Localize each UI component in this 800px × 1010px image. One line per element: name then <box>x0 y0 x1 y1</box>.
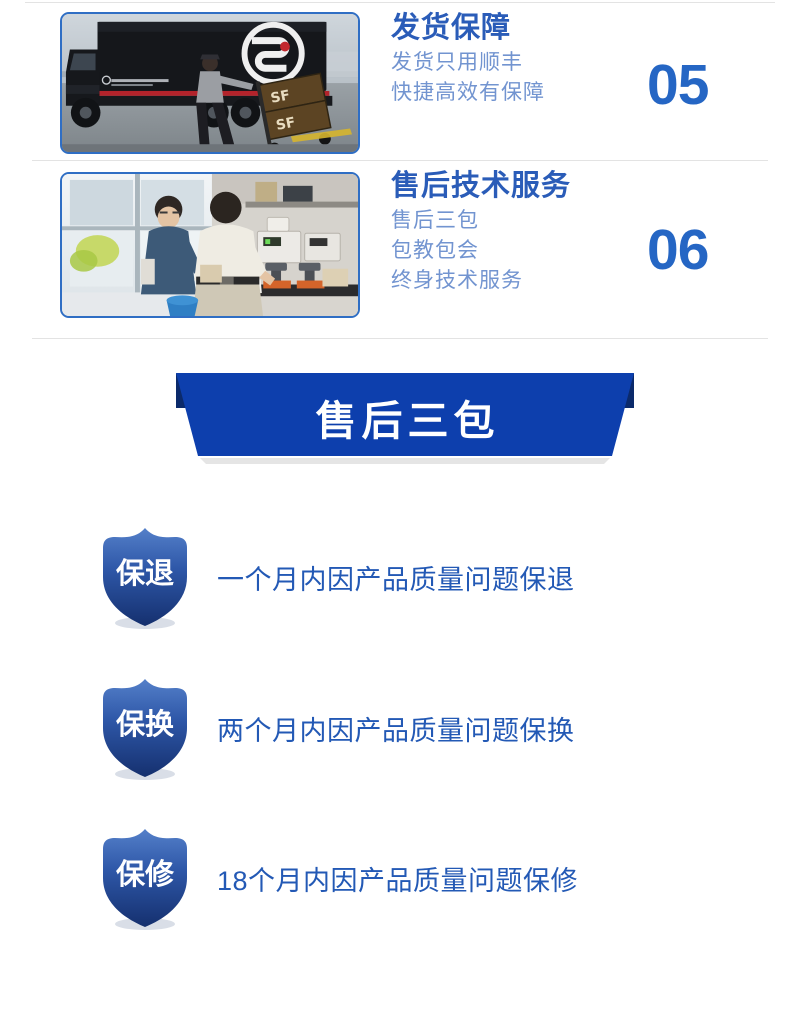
feature-line: 发货只用顺丰 <box>391 48 545 78</box>
shield-badge-exchange: 保换 <box>97 676 193 781</box>
guarantee-row: 保退 一个月内因产品质量问题保退 <box>0 522 800 632</box>
after-sales-photo-frame <box>60 172 360 318</box>
shield-badge-label: 保退 <box>97 525 193 630</box>
ribbon-title: 售后三包 <box>160 368 650 456</box>
feature-title: 售后技术服务 <box>391 170 571 203</box>
shield-badge-label: 保换 <box>97 676 193 781</box>
guarantee-text: 两个月内因产品质量问题保换 <box>217 709 575 748</box>
feature-title: 发货保障 <box>391 12 545 45</box>
feature-lines: 发货只用顺丰 快捷高效有保障 <box>391 48 545 108</box>
shipping-text-block: 发货保障 发货只用顺丰 快捷高效有保障 <box>391 12 545 108</box>
divider-top <box>25 2 775 3</box>
feature-number: 05 <box>647 57 708 114</box>
shipping-photo-frame: SF SF <box>60 12 360 154</box>
feature-line: 包教包会 <box>391 236 571 266</box>
shield-badge-warranty: 保修 <box>97 826 193 931</box>
divider-between-features <box>32 160 768 161</box>
feature-lines: 售后三包 包教包会 终身技术服务 <box>391 206 571 295</box>
guarantee-text: 18个月内因产品质量问题保修 <box>217 859 578 898</box>
guarantee-text: 一个月内因产品质量问题保退 <box>217 558 575 597</box>
feature-row-shipping: SF SF 发货保障 发货只用顺丰 快捷高效有保障 05 <box>0 12 800 160</box>
shield-badge-return: 保退 <box>97 525 193 630</box>
feature-line: 售后三包 <box>391 206 571 236</box>
divider-below-features <box>32 338 768 339</box>
guarantee-row: 保换 两个月内因产品质量问题保换 <box>0 673 800 783</box>
sf-express-delivery-truck-photo: SF SF <box>62 14 358 154</box>
feature-line: 终身技术服务 <box>391 266 571 296</box>
feature-row-after-sales: 售后技术服务 售后三包 包教包会 终身技术服务 06 <box>0 170 800 338</box>
shield-badge-label: 保修 <box>97 826 193 931</box>
ribbon-banner: 售后三包 <box>160 368 650 468</box>
feature-line: 快捷高效有保障 <box>391 78 545 108</box>
guarantee-row: 保修 18个月内因产品质量问题保修 <box>0 823 800 933</box>
feature-number: 06 <box>647 222 708 279</box>
technicians-at-workbench-photo <box>62 174 358 318</box>
after-sales-text-block: 售后技术服务 售后三包 包教包会 终身技术服务 <box>391 170 571 296</box>
